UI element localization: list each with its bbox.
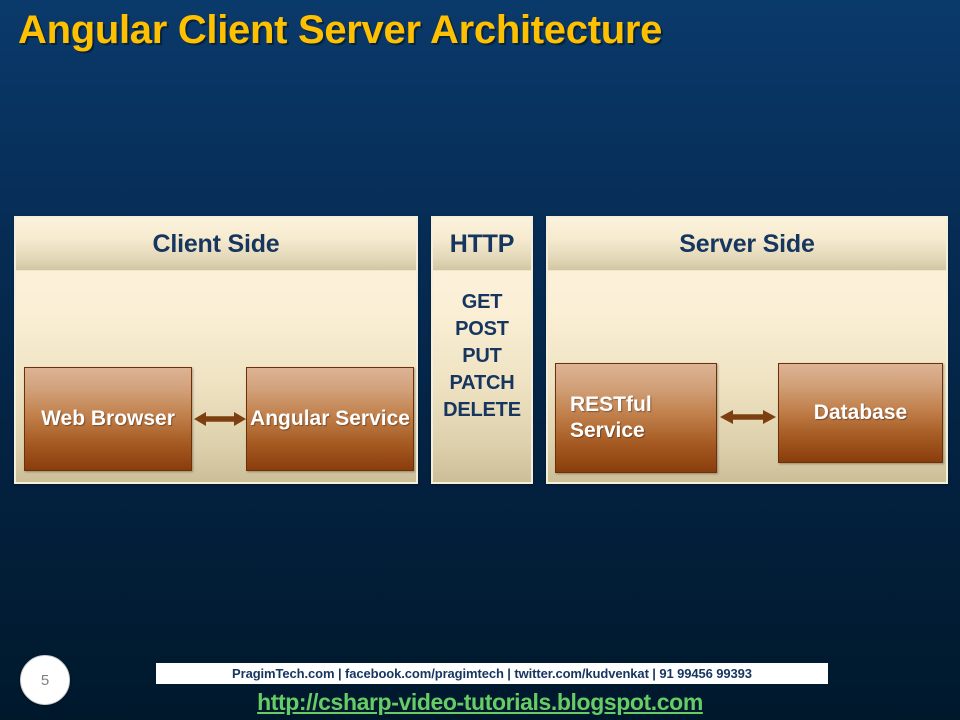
panel-http-title: HTTP [450, 230, 514, 259]
panel-client-side: Client Side Web Browser Angular Service [14, 216, 418, 484]
page-title: Angular Client Server Architecture [18, 8, 938, 53]
panel-server-side-body: RESTful Service Database [548, 271, 946, 485]
box-database-label: Database [779, 400, 942, 426]
http-verb-post: POST [433, 316, 531, 343]
double-arrow-icon-server [720, 408, 776, 426]
box-angular-service[interactable]: Angular Service [246, 367, 414, 471]
box-angular-service-label: Angular Service [247, 406, 413, 432]
panel-client-side-body: Web Browser Angular Service [16, 271, 416, 485]
http-verb-list: GET POST PUT PATCH DELETE [433, 271, 531, 424]
double-arrow-icon-client [194, 410, 246, 428]
http-verb-put: PUT [433, 343, 531, 370]
box-restful-service-label: RESTful Service [556, 392, 716, 444]
http-verb-patch: PATCH [433, 370, 531, 397]
page-number-text: 5 [41, 672, 49, 689]
footer-blog-link[interactable]: http://csharp-video-tutorials.blogspot.c… [0, 689, 960, 716]
slide-canvas: Angular Client Server Architecture Clien… [0, 0, 960, 720]
http-verb-delete: DELETE [433, 397, 531, 424]
panel-client-side-header: Client Side [16, 218, 416, 271]
architecture-diagram: Client Side Web Browser Angular Service [0, 216, 960, 488]
http-verb-get: GET [433, 289, 531, 316]
footer-contact-text: PragimTech.com | facebook.com/pragimtech… [232, 666, 752, 681]
panel-http-body: GET POST PUT PATCH DELETE [433, 271, 531, 485]
box-restful-service[interactable]: RESTful Service [555, 363, 717, 473]
panel-server-side-title: Server Side [679, 230, 814, 259]
box-web-browser-label: Web Browser [25, 406, 191, 432]
panel-server-side: Server Side RESTful Service Database [546, 216, 948, 484]
footer-contact-bar: PragimTech.com | facebook.com/pragimtech… [156, 663, 828, 684]
panel-http-header: HTTP [433, 218, 531, 271]
panel-server-side-header: Server Side [548, 218, 946, 271]
box-web-browser[interactable]: Web Browser [24, 367, 192, 471]
panel-client-side-title: Client Side [153, 230, 280, 259]
box-database[interactable]: Database [778, 363, 943, 463]
panel-http: HTTP GET POST PUT PATCH DELETE [431, 216, 533, 484]
